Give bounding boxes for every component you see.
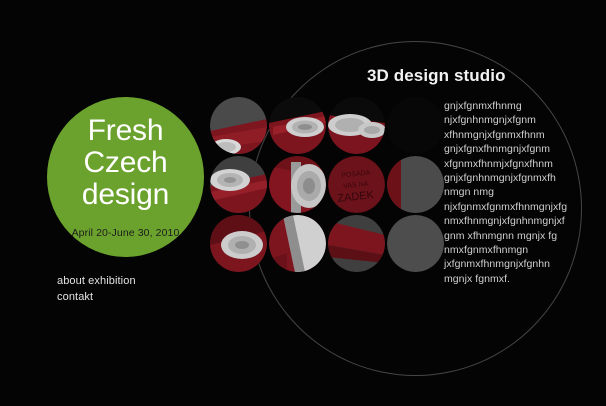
gallery-thumb-4[interactable] — [387, 97, 444, 154]
main-navigation: about exhibition contakt — [57, 274, 136, 304]
gallery-thumb-9[interactable] — [210, 215, 267, 272]
gallery-thumb-5[interactable] — [210, 156, 267, 213]
studio-description-line: njxfgnmxfgnmxfhnmgnjxfg — [444, 200, 602, 214]
studio-description-line: gnjxfgnxfhnmgnjxfgnm — [444, 142, 602, 156]
exhibition-dates: April 20-June 30, 2010 — [72, 227, 180, 239]
brand-title: Fresh Czech design — [82, 115, 169, 215]
gallery-thumb-8[interactable] — [387, 156, 444, 213]
studio-heading: 3D design studio — [367, 66, 506, 86]
studio-description-line: gnjxfgnmxfhnmg — [444, 99, 602, 113]
gallery-thumb-6[interactable] — [269, 156, 326, 213]
studio-description-line: jxfgnmxfhnmgnjxfgnhn — [444, 257, 602, 271]
studio-description-line: nmxfhnmgnjxfgnhnmgnjxf — [444, 214, 602, 228]
studio-description-line: xfgnmxfhnmjxfgnxfhnm — [444, 157, 602, 171]
brand-title-line-3: design — [82, 179, 169, 211]
studio-description-line: mgnjx fgnmxf. — [444, 272, 602, 286]
studio-description-line: nmgn nmg — [444, 185, 602, 199]
gallery-thumb-2[interactable] — [269, 97, 326, 154]
studio-description-line: xfhnmgnjxfgnmxfhnm — [444, 128, 602, 142]
studio-description-line: njxfgnhnmgnjxfgnm — [444, 113, 602, 127]
page-canvas: POSADA VAS NA ZADEK — [0, 0, 606, 406]
studio-description: gnjxfgnmxfhnmgnjxfgnhnmgnjxfgnmxfhnmgnjx… — [444, 99, 602, 286]
gallery-thumb-11[interactable] — [328, 215, 385, 272]
gallery-thumb-7[interactable]: POSADA VAS NA ZADEK — [328, 156, 385, 213]
nav-item-contakt[interactable]: contakt — [57, 290, 136, 304]
gallery-thumb-3[interactable] — [328, 97, 385, 154]
brand-logo-disc[interactable]: Fresh Czech design April 20-June 30, 201… — [47, 97, 204, 257]
brand-title-line-2: Czech — [82, 147, 169, 179]
gallery-thumbnail-grid: POSADA VAS NA ZADEK — [210, 97, 444, 272]
studio-description-line: nmxfgnmxfhnmgn — [444, 243, 602, 257]
nav-item-about-exhibition[interactable]: about exhibition — [57, 274, 136, 288]
gallery-thumb-12[interactable] — [387, 215, 444, 272]
studio-description-line: gnm xfhnmgnn mgnjx fg — [444, 229, 602, 243]
gallery-thumb-10[interactable] — [269, 215, 326, 272]
gallery-thumb-1[interactable] — [210, 97, 267, 154]
studio-description-line: gnjxfgnhnmgnjxfgnmxfh — [444, 171, 602, 185]
brand-title-line-1: Fresh — [82, 115, 169, 147]
